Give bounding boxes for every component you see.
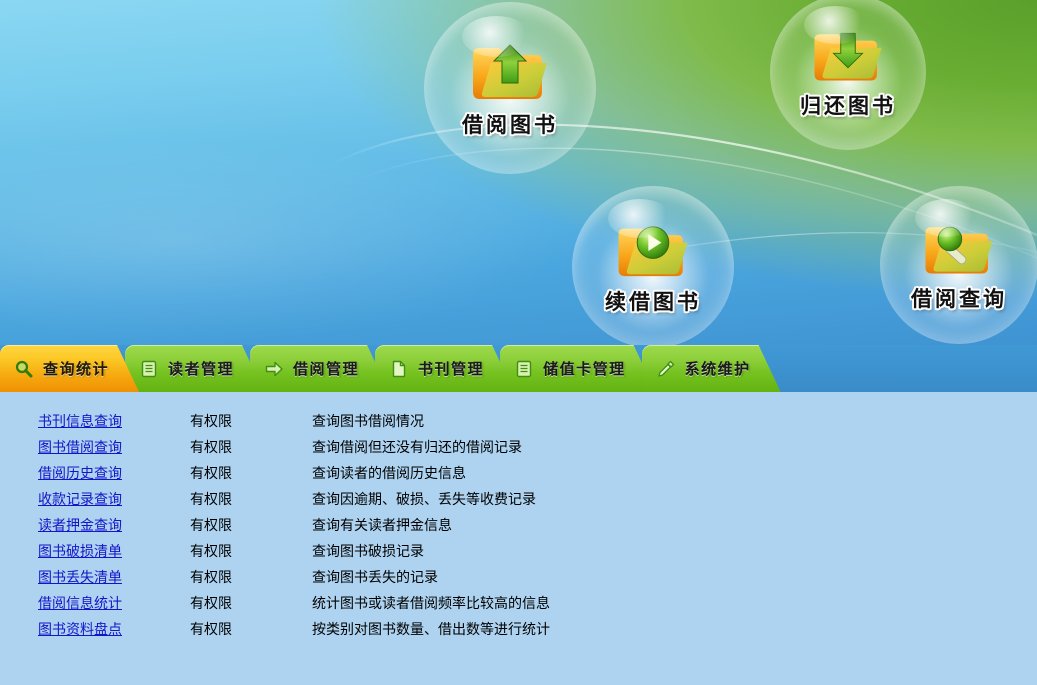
table-cell-description: 按类别对图书数量、借出数等进行统计: [312, 618, 1037, 644]
shortcut-bubble-return-books[interactable]: 归还图书: [770, 0, 926, 150]
table-row: 图书借阅查询 有权限 查询借阅但还没有归还的借阅记录: [0, 436, 1037, 462]
shortcut-label: 借阅查询: [911, 283, 1007, 313]
table-row: 图书资料盘点 有权限 按类别对图书数量、借出数等进行统计: [0, 618, 1037, 644]
table-cell-link: 图书破损清单: [0, 540, 190, 566]
header-banner: 借阅图书: [0, 0, 1037, 345]
tab-system-maintenance[interactable]: 系统维护: [642, 345, 781, 392]
table-cell-description: 查询图书丢失的记录: [312, 566, 1037, 592]
table-cell-description: 查询图书破损记录: [312, 540, 1037, 566]
tab-list: 查询统计 读者管理 借阅管理: [0, 345, 767, 392]
table-row: 书刊信息查询 有权限 查询图书借阅情况: [0, 410, 1037, 436]
tab-label: 借阅管理: [293, 358, 359, 379]
tab-query-statistics[interactable]: 查询统计: [0, 345, 139, 392]
table-cell-permission: 有权限: [190, 410, 312, 436]
table-cell-permission: 有权限: [190, 540, 312, 566]
table-row: 借阅历史查询 有权限 查询读者的借阅历史信息: [0, 462, 1037, 488]
table-cell-description: 查询有关读者押金信息: [312, 514, 1037, 540]
link-book-info-query[interactable]: 书刊信息查询: [38, 414, 122, 430]
table-cell-link: 读者押金查询: [0, 514, 190, 540]
list-document-icon: [514, 359, 534, 379]
link-payment-record-query[interactable]: 收款记录查询: [38, 492, 122, 508]
table-cell-permission: 有权限: [190, 514, 312, 540]
table-cell-permission: 有权限: [190, 618, 312, 644]
tab-storedvalue-card-management[interactable]: 储值卡管理: [500, 345, 656, 392]
shortcut-bubble-borrow-books[interactable]: 借阅图书: [424, 2, 596, 174]
table-row: 图书破损清单 有权限 查询图书破损记录: [0, 540, 1037, 566]
tab-label: 储值卡管理: [543, 358, 626, 379]
table-cell-permission: 有权限: [190, 566, 312, 592]
folder-up-arrow-icon: [467, 37, 553, 107]
shortcut-label: 续借图书: [605, 286, 701, 316]
table-cell-description: 统计图书或读者借阅频率比较高的信息: [312, 592, 1037, 618]
table-cell-link: 图书资料盘点: [0, 618, 190, 644]
shortcut-bubble-borrow-query[interactable]: 借阅查询: [880, 186, 1037, 344]
arrow-right-icon: [264, 359, 284, 379]
list-document-icon: [139, 359, 159, 379]
table-row: 读者押金查询 有权限 查询有关读者押金信息: [0, 514, 1037, 540]
folder-magnifier-icon: [920, 217, 998, 281]
shortcut-label: 归还图书: [800, 90, 896, 120]
tab-book-management[interactable]: 书刊管理: [375, 345, 514, 392]
table-cell-description: 查询因逾期、破损、丢失等收费记录: [312, 488, 1037, 514]
tab-reader-management[interactable]: 读者管理: [125, 345, 264, 392]
table-row: 收款记录查询 有权限 查询因逾期、破损、丢失等收费记录: [0, 488, 1037, 514]
table-cell-link: 借阅历史查询: [0, 462, 190, 488]
shortcut-label: 借阅图书: [462, 109, 558, 139]
tab-label: 系统维护: [685, 358, 751, 379]
table-cell-permission: 有权限: [190, 592, 312, 618]
tab-label: 读者管理: [168, 358, 234, 379]
link-book-borrow-query[interactable]: 图书借阅查询: [38, 440, 122, 456]
permission-table: 书刊信息查询 有权限 查询图书借阅情况 图书借阅查询 有权限 查询借阅但还没有归…: [0, 410, 1037, 644]
link-borrow-info-statistics[interactable]: 借阅信息统计: [38, 596, 122, 612]
link-borrow-history-query[interactable]: 借阅历史查询: [38, 466, 122, 482]
table-cell-permission: 有权限: [190, 462, 312, 488]
table-row: 借阅信息统计 有权限 统计图书或读者借阅频率比较高的信息: [0, 592, 1037, 618]
table-cell-link: 书刊信息查询: [0, 410, 190, 436]
table-cell-permission: 有权限: [190, 436, 312, 462]
link-reader-deposit-query[interactable]: 读者押金查询: [38, 518, 122, 534]
magnifier-icon: [14, 359, 34, 379]
folder-down-arrow-icon: [809, 24, 887, 88]
link-damaged-book-list[interactable]: 图书破损清单: [38, 544, 122, 560]
shortcut-bubble-renew-books[interactable]: 续借图书: [572, 186, 734, 345]
folder-play-icon: [613, 218, 693, 284]
table-cell-link: 图书借阅查询: [0, 436, 190, 462]
page-icon: [389, 359, 409, 379]
table-row: 图书丢失清单 有权限 查询图书丢失的记录: [0, 566, 1037, 592]
tab-label: 查询统计: [43, 358, 109, 379]
table-cell-description: 查询读者的借阅历史信息: [312, 462, 1037, 488]
table-cell-permission: 有权限: [190, 488, 312, 514]
tab-borrow-management[interactable]: 借阅管理: [250, 345, 389, 392]
table-cell-description: 查询借阅但还没有归还的借阅记录: [312, 436, 1037, 462]
content-panel: 书刊信息查询 有权限 查询图书借阅情况 图书借阅查询 有权限 查询借阅但还没有归…: [0, 392, 1037, 685]
tab-label: 书刊管理: [418, 358, 484, 379]
table-cell-link: 图书丢失清单: [0, 566, 190, 592]
table-cell-description: 查询图书借阅情况: [312, 410, 1037, 436]
application-window: 借阅图书: [0, 0, 1037, 685]
link-book-inventory[interactable]: 图书资料盘点: [38, 622, 122, 638]
screwdriver-icon: [656, 359, 676, 379]
table-cell-link: 借阅信息统计: [0, 592, 190, 618]
permission-table-body: 书刊信息查询 有权限 查询图书借阅情况 图书借阅查询 有权限 查询借阅但还没有归…: [0, 410, 1037, 644]
link-lost-book-list[interactable]: 图书丢失清单: [38, 570, 122, 586]
main-navigation-tabbar: 查询统计 读者管理 借阅管理: [0, 345, 1037, 392]
table-cell-link: 收款记录查询: [0, 488, 190, 514]
